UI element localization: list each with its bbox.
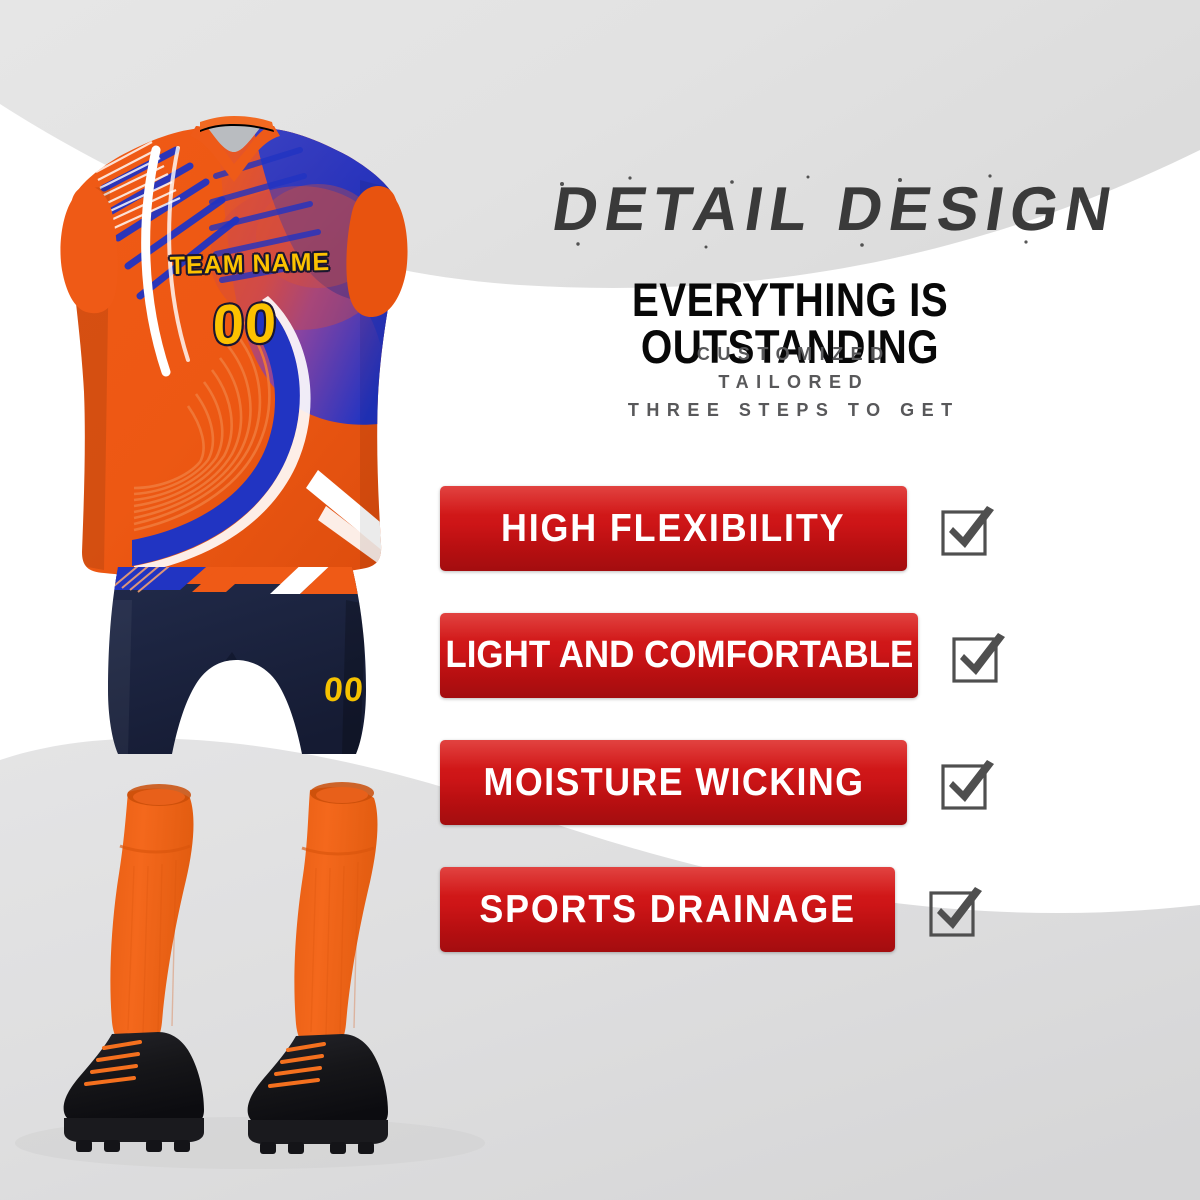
shorts <box>100 556 380 770</box>
feature-row: SPORTS DRAINAGE <box>440 867 1200 952</box>
sock-right <box>294 787 377 1054</box>
feature-row: HIGH FLEXIBILITY <box>440 486 1200 571</box>
checkbox-checked-icon <box>937 752 999 814</box>
tagline-item: TAILORED <box>440 369 1140 397</box>
shorts-number: 00 <box>313 673 375 707</box>
feature-bar: HIGH FLEXIBILITY <box>440 486 907 571</box>
marketing-content: DETAIL DESIGN EVERYTHING IS OUTSTANDING … <box>440 0 1200 1200</box>
tagline-list: CUSTOMIZED TAILORED THREE STEPS TO GET <box>440 341 1140 425</box>
product-image: TEAM NAME 00 00 <box>0 0 500 1200</box>
headline-title-brush: DETAIL DESIGN <box>470 168 1110 252</box>
jersey <box>50 110 450 600</box>
headline-title-wrap: DETAIL DESIGN <box>440 168 1140 252</box>
product-detail-page: TEAM NAME 00 00 DETAIL DESIGN EVERYTHING… <box>0 0 1200 1200</box>
feature-label: LIGHT AND COMFORTABLE <box>445 634 913 677</box>
jersey-sleeve-right <box>346 186 407 317</box>
feature-row: LIGHT AND COMFORTABLE <box>440 613 1200 698</box>
tagline-item: CUSTOMIZED <box>440 341 1140 369</box>
tagline-item: THREE STEPS TO GET <box>440 397 1140 425</box>
feature-label: SPORTS DRAINAGE <box>479 888 855 932</box>
feature-bar: LIGHT AND COMFORTABLE <box>440 613 918 698</box>
headline-title: DETAIL DESIGN <box>548 175 1110 244</box>
feature-label: HIGH FLEXIBILITY <box>501 507 845 551</box>
feature-bar: MOISTURE WICKING <box>440 740 907 825</box>
uniform-illustration <box>0 0 500 1200</box>
jersey-number: 00 <box>185 294 306 354</box>
checkbox-checked-icon <box>925 879 987 941</box>
cleats <box>64 1032 388 1154</box>
checkbox-checked-icon <box>937 498 999 560</box>
feature-list: HIGH FLEXIBILITY LIGHT AND COMFORTABLE <box>440 486 1200 994</box>
feature-label: MOISTURE WICKING <box>483 761 864 805</box>
jersey-team-name: TEAM NAME <box>150 249 351 279</box>
feature-row: MOISTURE WICKING <box>440 740 1200 825</box>
jersey-sleeve-left <box>60 186 117 313</box>
socks <box>110 782 377 1054</box>
checkbox-checked-icon <box>948 625 1010 687</box>
feature-bar: SPORTS DRAINAGE <box>440 867 895 952</box>
sock-left <box>110 789 193 1052</box>
